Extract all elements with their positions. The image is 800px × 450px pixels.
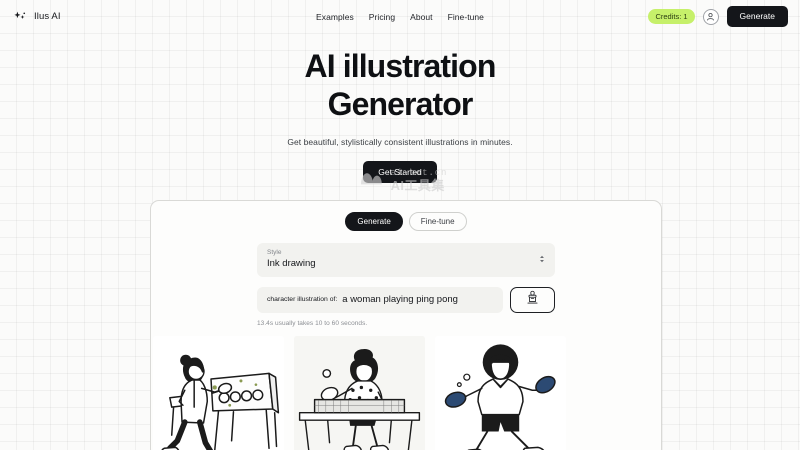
result-image-1[interactable] [153, 336, 284, 450]
hero-title-line-1: AI illustration [305, 48, 496, 84]
style-value: Ink drawing [267, 259, 316, 269]
header-actions: Credits: 1 Generate [648, 6, 788, 27]
nav-item-fine-tune[interactable]: Fine-tune [448, 12, 484, 22]
tab-generate[interactable]: Generate [345, 212, 402, 231]
results-row [151, 336, 661, 450]
cta-wrapper: Get Started [0, 161, 800, 184]
get-started-button[interactable]: Get Started [363, 161, 436, 184]
prompt-input[interactable]: character illustration of: a woman playi… [257, 287, 503, 313]
hero-subtitle: Get beautiful, stylistically consistent … [0, 137, 800, 147]
generation-status: 13.4s usually takes 10 to 60 seconds. [257, 320, 555, 327]
nav-item-examples[interactable]: Examples [316, 12, 354, 22]
style-label: Style [267, 250, 316, 257]
result-image-2[interactable] [294, 336, 425, 450]
results-scroll-pad [576, 336, 578, 450]
credits-badge: Credits: 1 [648, 9, 694, 24]
site-header: Ilus AI Examples Pricing About Fine-tune… [0, 0, 800, 33]
style-select-content: Style Ink drawing [267, 250, 316, 269]
page-title: AI illustration Generator [190, 48, 610, 124]
style-select[interactable]: Style Ink drawing [257, 243, 555, 277]
brand-logo[interactable]: Ilus AI [14, 10, 61, 23]
user-avatar-icon[interactable] [703, 9, 719, 25]
page-root: Ilus AI Examples Pricing About Fine-tune… [0, 0, 800, 450]
sparkle-logo-icon [14, 10, 27, 23]
tab-fine-tune[interactable]: Fine-tune [409, 212, 467, 231]
hero-section: AI illustration Generator Get beautiful,… [0, 33, 800, 183]
nav-item-pricing[interactable]: Pricing [369, 12, 395, 22]
prompt-row: character illustration of: a woman playi… [257, 287, 555, 313]
stamp-icon [526, 290, 539, 310]
card-tabs: Generate Fine-tune [151, 212, 661, 231]
stamp-icon-button[interactable] [510, 287, 555, 313]
brand-name: Ilus AI [34, 11, 61, 22]
hero-title-line-2: Generator [328, 86, 473, 122]
nav-item-about[interactable]: About [410, 12, 432, 22]
prompt-prefix-label: character illustration of: [267, 296, 337, 303]
generator-card: Generate Fine-tune Style Ink drawing [150, 200, 662, 450]
prompt-value: a woman playing ping pong [342, 294, 458, 305]
result-image-3[interactable] [435, 336, 566, 450]
chevron-up-down-icon[interactable] [539, 255, 545, 263]
generator-panel: Style Ink drawing character illustration… [151, 243, 661, 327]
generate-button[interactable]: Generate [727, 6, 788, 27]
